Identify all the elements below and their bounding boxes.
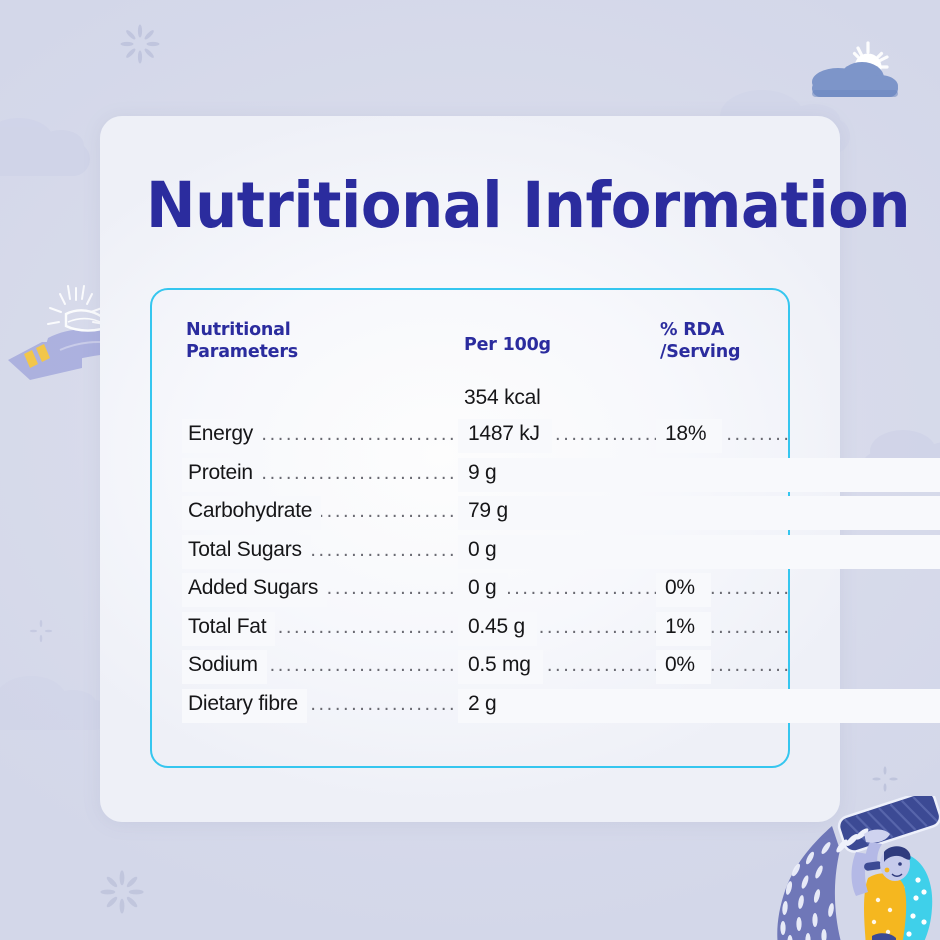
row-value: 2 g	[464, 692, 502, 716]
table-row: ........................................…	[152, 573, 788, 612]
column-header-rda-line2: /Serving	[660, 342, 790, 364]
row-value: 0.45 g	[464, 615, 531, 639]
row-value: 9 g	[464, 461, 502, 485]
row-value: 0 g	[464, 576, 502, 600]
row-value: 0.5 mg	[464, 653, 537, 677]
sparkle-icon	[118, 22, 162, 66]
page-title: Nutritional Information	[146, 174, 766, 237]
table-row: ........................................…	[152, 535, 788, 574]
row-label: Energy	[188, 422, 258, 446]
row-label: Added Sugars	[188, 576, 323, 600]
column-header-parameters-line2: Parameters	[186, 342, 376, 364]
leader-mask	[458, 535, 940, 569]
energy-kcal-value: 354 kcal	[464, 386, 541, 410]
row-value: 79 g	[464, 499, 514, 523]
table-body: 354 kcal ...............................…	[152, 382, 788, 727]
energy-kcal-line: 354 kcal	[152, 382, 788, 419]
column-header-per-100g: Per 100g	[464, 335, 614, 357]
row-label: Total Fat	[188, 615, 271, 639]
background-cloud-left	[0, 142, 90, 176]
poster-canvas: Nutritional Information Nutritional Para…	[0, 0, 940, 940]
nutrition-table: Nutritional Parameters Per 100g % RDA /S…	[150, 288, 790, 768]
row-value: 0 g	[464, 538, 502, 562]
leader-mask	[458, 496, 940, 530]
row-label: Total Sugars	[188, 538, 307, 562]
nutrition-card: Nutritional Information Nutritional Para…	[100, 116, 840, 822]
column-header-parameters-line1: Nutritional	[186, 320, 376, 342]
row-rda: 0%	[660, 653, 695, 677]
background-cloud-bottom-left	[0, 700, 110, 730]
table-row: ........................................…	[152, 612, 788, 651]
table-header-row: Nutritional Parameters Per 100g % RDA /S…	[152, 290, 788, 378]
sparkle-icon	[98, 868, 146, 916]
sparkle-icon	[868, 762, 902, 796]
sun-behind-cloud-icon	[800, 38, 930, 122]
sparkle-icon	[26, 616, 56, 646]
column-header-parameters: Nutritional Parameters	[186, 320, 376, 364]
row-rda: 0%	[660, 576, 695, 600]
column-header-rda: % RDA /Serving	[660, 320, 790, 364]
row-rda: 1%	[660, 615, 695, 639]
row-value: 1487 kJ	[464, 422, 546, 446]
table-row: ........................................…	[152, 650, 788, 689]
table-row: ........................................…	[152, 689, 788, 728]
table-row: ........................................…	[152, 458, 788, 497]
table-row: ........................................…	[152, 496, 788, 535]
column-header-rda-line1: % RDA	[660, 320, 790, 342]
row-rda: 18%	[660, 422, 706, 446]
row-label: Protein	[188, 461, 258, 485]
table-row: ........................................…	[152, 419, 788, 458]
row-label: Dietary fibre	[188, 692, 303, 716]
row-label: Sodium	[188, 653, 263, 677]
leader-mask	[458, 458, 940, 492]
leader-mask	[458, 689, 940, 723]
row-label: Carbohydrate	[188, 499, 317, 523]
